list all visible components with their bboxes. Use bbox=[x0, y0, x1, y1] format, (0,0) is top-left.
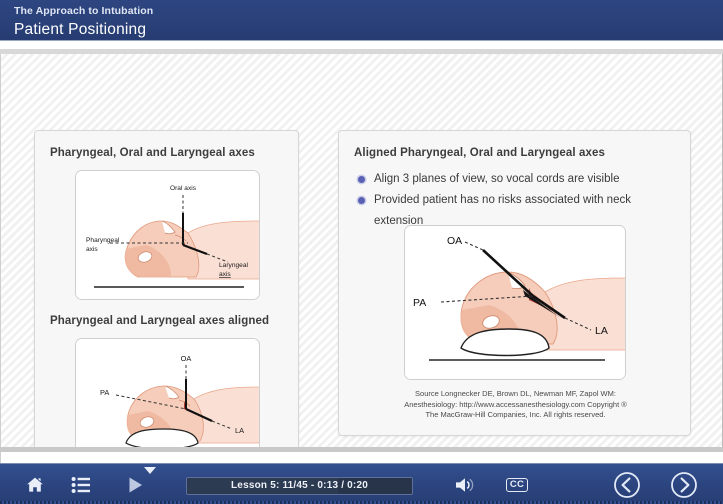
page-title: Patient Positioning bbox=[14, 19, 723, 40]
home-icon bbox=[25, 475, 45, 495]
list-item: Align 3 planes of view, so vocal cords a… bbox=[357, 169, 677, 190]
volume-button[interactable] bbox=[452, 472, 478, 498]
right-panel-heading: Aligned Pharyngeal, Oral and Laryngeal a… bbox=[354, 147, 605, 159]
axes-diverged-svg: Oral axis Pharyngeal axis Laryngeal axis bbox=[76, 171, 260, 300]
menu-button[interactable] bbox=[68, 472, 94, 498]
left-section1-heading: Pharyngeal, Oral and Laryngeal axes bbox=[50, 147, 255, 159]
axes-diverged-illustration: Oral axis Pharyngeal axis Laryngeal axis bbox=[75, 170, 260, 300]
right-content-panel: Aligned Pharyngeal, Oral and Laryngeal a… bbox=[338, 130, 691, 436]
svg-text:Laryngeal: Laryngeal bbox=[219, 262, 248, 269]
left-section2-heading: Pharyngeal and Laryngeal axes aligned bbox=[50, 315, 269, 327]
source-line: Source Longnecker DE, Brown DL, Newman M… bbox=[351, 389, 680, 400]
svg-text:PA: PA bbox=[100, 388, 109, 397]
bullet-text: Provided patient has no risks associated… bbox=[374, 194, 631, 227]
next-button[interactable] bbox=[669, 470, 699, 500]
left-content-panel: Pharyngeal, Oral and Laryngeal axes bbox=[34, 130, 299, 478]
progress-control[interactable]: Lesson 5: 11/45 - 0:13 / 0:20 bbox=[186, 477, 413, 495]
header-bar: The Approach to Intubation Patient Posit… bbox=[0, 0, 723, 41]
next-icon bbox=[670, 471, 698, 499]
list-menu-icon bbox=[71, 476, 91, 494]
bullet-dot-icon bbox=[358, 176, 365, 183]
play-button[interactable] bbox=[122, 472, 148, 498]
svg-text:axis: axis bbox=[219, 271, 231, 278]
bullet-list: Align 3 planes of view, so vocal cords a… bbox=[357, 169, 677, 232]
playhead-marker-icon[interactable] bbox=[144, 467, 156, 474]
header-kicker: The Approach to Intubation bbox=[14, 4, 723, 18]
volume-icon bbox=[454, 476, 476, 494]
svg-text:LA: LA bbox=[595, 325, 608, 337]
svg-text:axis: axis bbox=[86, 246, 98, 253]
axes-all-aligned-illustration: OA PA LA bbox=[404, 225, 626, 380]
header-gap bbox=[0, 41, 723, 49]
stage-bottom-gap bbox=[0, 452, 723, 463]
play-icon bbox=[125, 475, 145, 495]
previous-button[interactable] bbox=[612, 470, 642, 500]
previous-icon bbox=[613, 471, 641, 499]
svg-text:Pharyngeal: Pharyngeal bbox=[86, 237, 120, 244]
cc-icon: CC bbox=[506, 478, 528, 492]
progress-label: Lesson 5: 11/45 - 0:13 / 0:20 bbox=[186, 477, 413, 495]
slide-stage: Pharyngeal, Oral and Laryngeal axes bbox=[0, 54, 723, 447]
source-citation: Source Longnecker DE, Brown DL, Newman M… bbox=[351, 389, 680, 421]
elearning-player: The Approach to Intubation Patient Posit… bbox=[0, 0, 723, 504]
bullet-dot-icon bbox=[358, 197, 365, 204]
svg-text:LA: LA bbox=[235, 426, 244, 435]
svg-text:OA: OA bbox=[181, 354, 192, 363]
closed-captions-button[interactable]: CC bbox=[503, 472, 531, 498]
axes-all-aligned-svg: OA PA LA bbox=[405, 226, 626, 380]
svg-text:PA: PA bbox=[413, 297, 426, 309]
home-button[interactable] bbox=[22, 472, 48, 498]
source-line: The MacGraw-Hill Companies, Inc. All rig… bbox=[351, 410, 680, 421]
svg-text:Oral axis: Oral axis bbox=[170, 185, 197, 192]
bullet-text: Align 3 planes of view, so vocal cords a… bbox=[374, 173, 619, 185]
source-line: Anesthesiology: http://www.accessanesthe… bbox=[351, 400, 680, 411]
svg-text:OA: OA bbox=[447, 235, 462, 247]
